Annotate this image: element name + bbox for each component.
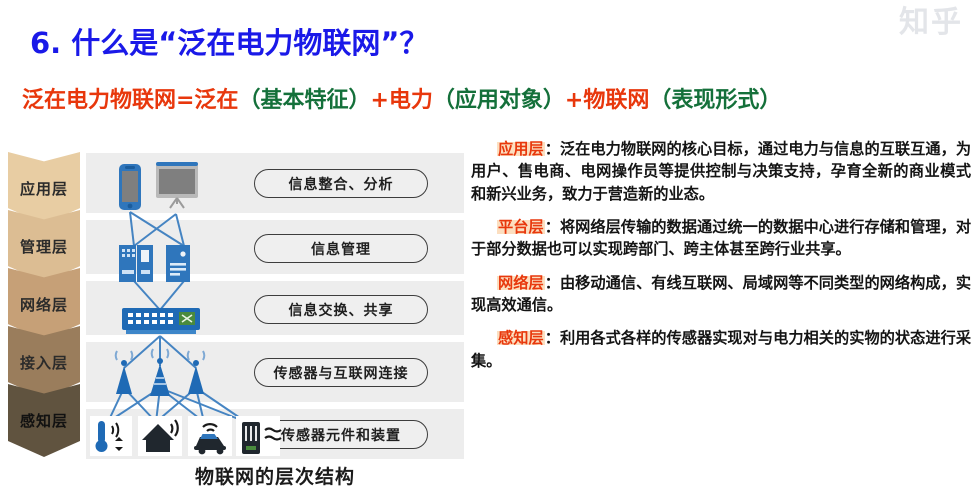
subtitle-seg-5: +物联网 xyxy=(565,88,649,113)
subtitle-seg-2: （基本特征） xyxy=(238,88,370,113)
monitor-icon xyxy=(156,162,198,208)
paragraph-body-3: ：利用各式各样的传感器实现对与电力相关的实物的状态进行采集。 xyxy=(471,329,971,369)
network-topology-graphic xyxy=(86,150,464,460)
paragraph-lead-2: 网络层 xyxy=(497,274,545,292)
description-paragraph-0: 应用层：泛在电力物联网的核心目标，通过电力与信息的互联互通，为用户、售电商、电网… xyxy=(471,138,971,205)
thermometer-sensor-icon xyxy=(90,416,132,456)
subtitle-seg-6: （表现形式） xyxy=(649,88,781,113)
zhihu-watermark: 知乎 xyxy=(899,8,963,38)
subtitle-seg-1: 泛在电力物联网=泛在 xyxy=(22,88,238,113)
paragraph-lead-1: 平台层 xyxy=(497,218,545,236)
chevron-label-3: 接入层 xyxy=(20,352,68,373)
paragraph-body-2: ：由移动通信、有线互联网、局域网等不同类型的网络构成，实现高效通信。 xyxy=(471,274,971,314)
diagram-caption: 物联网的层次结构 xyxy=(86,462,464,489)
cabinet-sensor-icon xyxy=(236,416,281,456)
paragraph-lead-3: 感知层 xyxy=(497,329,545,347)
paragraph-body-1: ：将网络层传输的数据通过统一的数据中心进行存储和管理，对于部分数据也可以实现跨部… xyxy=(471,218,971,258)
server-rack-icon xyxy=(119,245,153,282)
antenna-tower-icon xyxy=(116,351,132,394)
paragraph-lead-0: 应用层 xyxy=(497,140,545,158)
smartphone-icon xyxy=(119,164,141,210)
antenna-tower-icon xyxy=(188,351,204,394)
layer-chevron-stack: 应用层 管理层 网络层 接入层 感知层 xyxy=(8,152,80,457)
paragraph-body-0: ：泛在电力物联网的核心目标，通过电力与信息的互联互通，为用户、售电商、电网操作员… xyxy=(471,140,971,203)
car-sensor-icon xyxy=(188,416,232,456)
subtitle-formula: 泛在电力物联网=泛在（基本特征）+电力（应用对象）+物联网（表现形式） xyxy=(22,82,781,114)
house-sensor-icon xyxy=(138,416,182,456)
description-paragraph-1: 平台层：将网络层传输的数据通过统一的数据中心进行存储和管理，对于部分数据也可以实… xyxy=(471,216,971,261)
network-switch-icon xyxy=(122,308,200,334)
chevron-layer-4: 感知层 xyxy=(8,384,80,457)
subtitle-seg-3: +电力 xyxy=(370,88,432,113)
description-paragraph-3: 感知层：利用各式各样的传感器实现对与电力相关的实物的状态进行采集。 xyxy=(471,327,971,372)
chevron-label-4: 感知层 xyxy=(20,410,68,431)
description-column: 应用层：泛在电力物联网的核心目标，通过电力与信息的互联互通，为用户、售电商、电网… xyxy=(471,138,971,383)
iot-layer-diagram: 应用层 管理层 网络层 接入层 感知层 信息整合、分析 xyxy=(0,150,470,499)
page-title: 6. 什么是“泛在电力物联网”？ xyxy=(30,20,428,62)
chevron-label-0: 应用层 xyxy=(20,178,68,199)
chevron-label-1: 管理层 xyxy=(20,236,68,257)
chevron-label-2: 网络层 xyxy=(20,294,68,315)
slide-root: 知乎 6. 什么是“泛在电力物联网”？ 泛在电力物联网=泛在（基本特征）+电力（… xyxy=(0,0,979,499)
subtitle-seg-4: （应用对象） xyxy=(433,88,565,113)
description-paragraph-2: 网络层：由移动通信、有线互联网、局域网等不同类型的网络构成，实现高效通信。 xyxy=(471,272,971,317)
server-box-icon xyxy=(166,245,190,282)
